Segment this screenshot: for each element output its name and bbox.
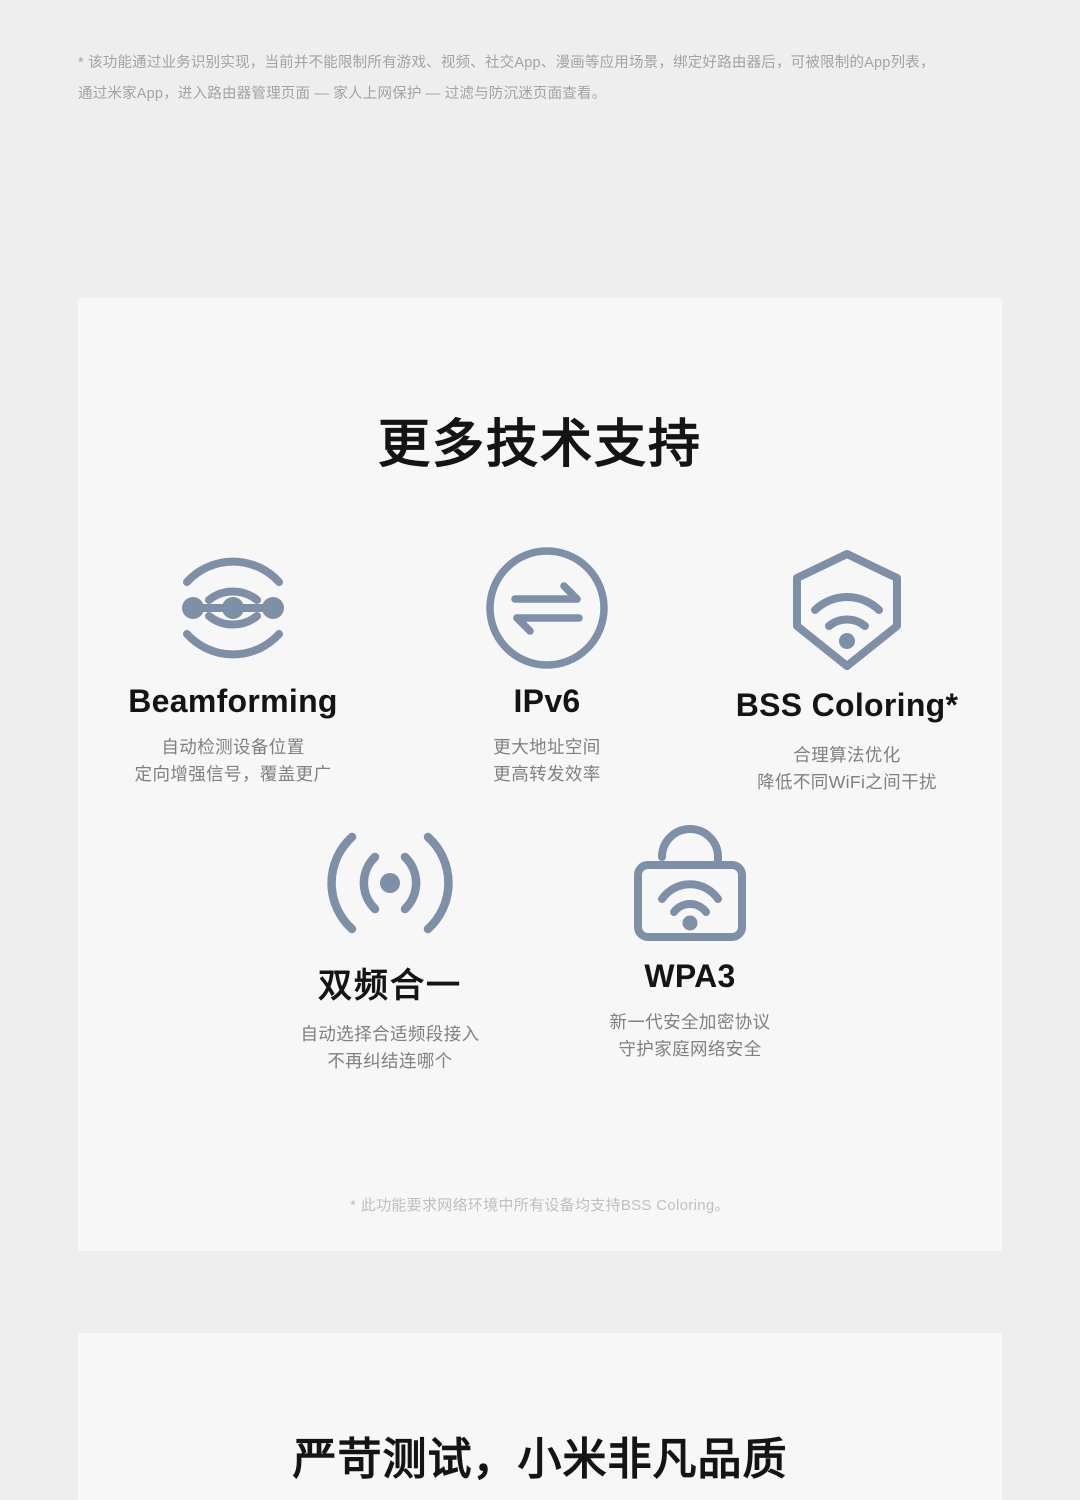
feature-row-top: Beamforming 自动检测设备位置 定向增强信号，覆盖更广 [78,545,1002,796]
feature-bss-coloring: BSS Coloring* 合理算法优化 降低不同WiFi之间干扰 [697,545,997,796]
feature-description: 合理算法优化 降低不同WiFi之间干扰 [757,742,937,796]
page-root: * 该功能通过业务识别实现，当前并不能限制所有游戏、视频、社交App、漫画等应用… [0,0,1080,1500]
feature-beamforming: Beamforming 自动检测设备位置 定向增强信号，覆盖更广 [83,545,383,796]
feature-wpa3: WPA3 新一代安全加密协议 守护家庭网络安全 [540,820,840,1075]
lock-wifi-icon [624,820,756,946]
feature-title: BSS Coloring* [736,687,959,724]
top-footnote: * 该功能通过业务识别实现，当前并不能限制所有游戏、视频、社交App、漫画等应用… [78,48,1018,110]
feature-title: WPA3 [644,958,735,995]
feature-description: 更大地址空间 更高转发效率 [493,734,600,788]
bidirectional-transfer-icon [481,545,613,671]
page-title: 更多技术支持 [78,402,1002,477]
feature-title: IPv6 [513,683,580,720]
feature-ipv6: IPv6 更大地址空间 更高转发效率 [397,545,697,796]
shield-wifi-icon [779,545,915,675]
feature-title: Beamforming [128,683,338,720]
card-footnote: * 此功能要求网络环境中所有设备均支持BSS Coloring。 [78,1194,1002,1215]
feature-description: 自动选择合适频段接入 不再纠结连哪个 [301,1021,480,1075]
feature-description: 自动检测设备位置 定向增强信号，覆盖更广 [135,734,332,788]
quality-title: 严苛测试，小米非凡品质 [78,1423,1002,1487]
beamforming-icon [167,545,299,671]
quality-card: 严苛测试，小米非凡品质 [78,1333,1002,1500]
dual-band-signal-icon [326,820,454,946]
feature-dual-band: 双频合一 自动选择合适频段接入 不再纠结连哪个 [240,820,540,1075]
tech-support-card: 更多技术支持 [78,298,1002,1251]
feature-title: 双频合一 [318,958,462,1007]
feature-description: 新一代安全加密协议 守护家庭网络安全 [609,1009,770,1063]
feature-row-bottom: 双频合一 自动选择合适频段接入 不再纠结连哪个 [78,820,1002,1075]
